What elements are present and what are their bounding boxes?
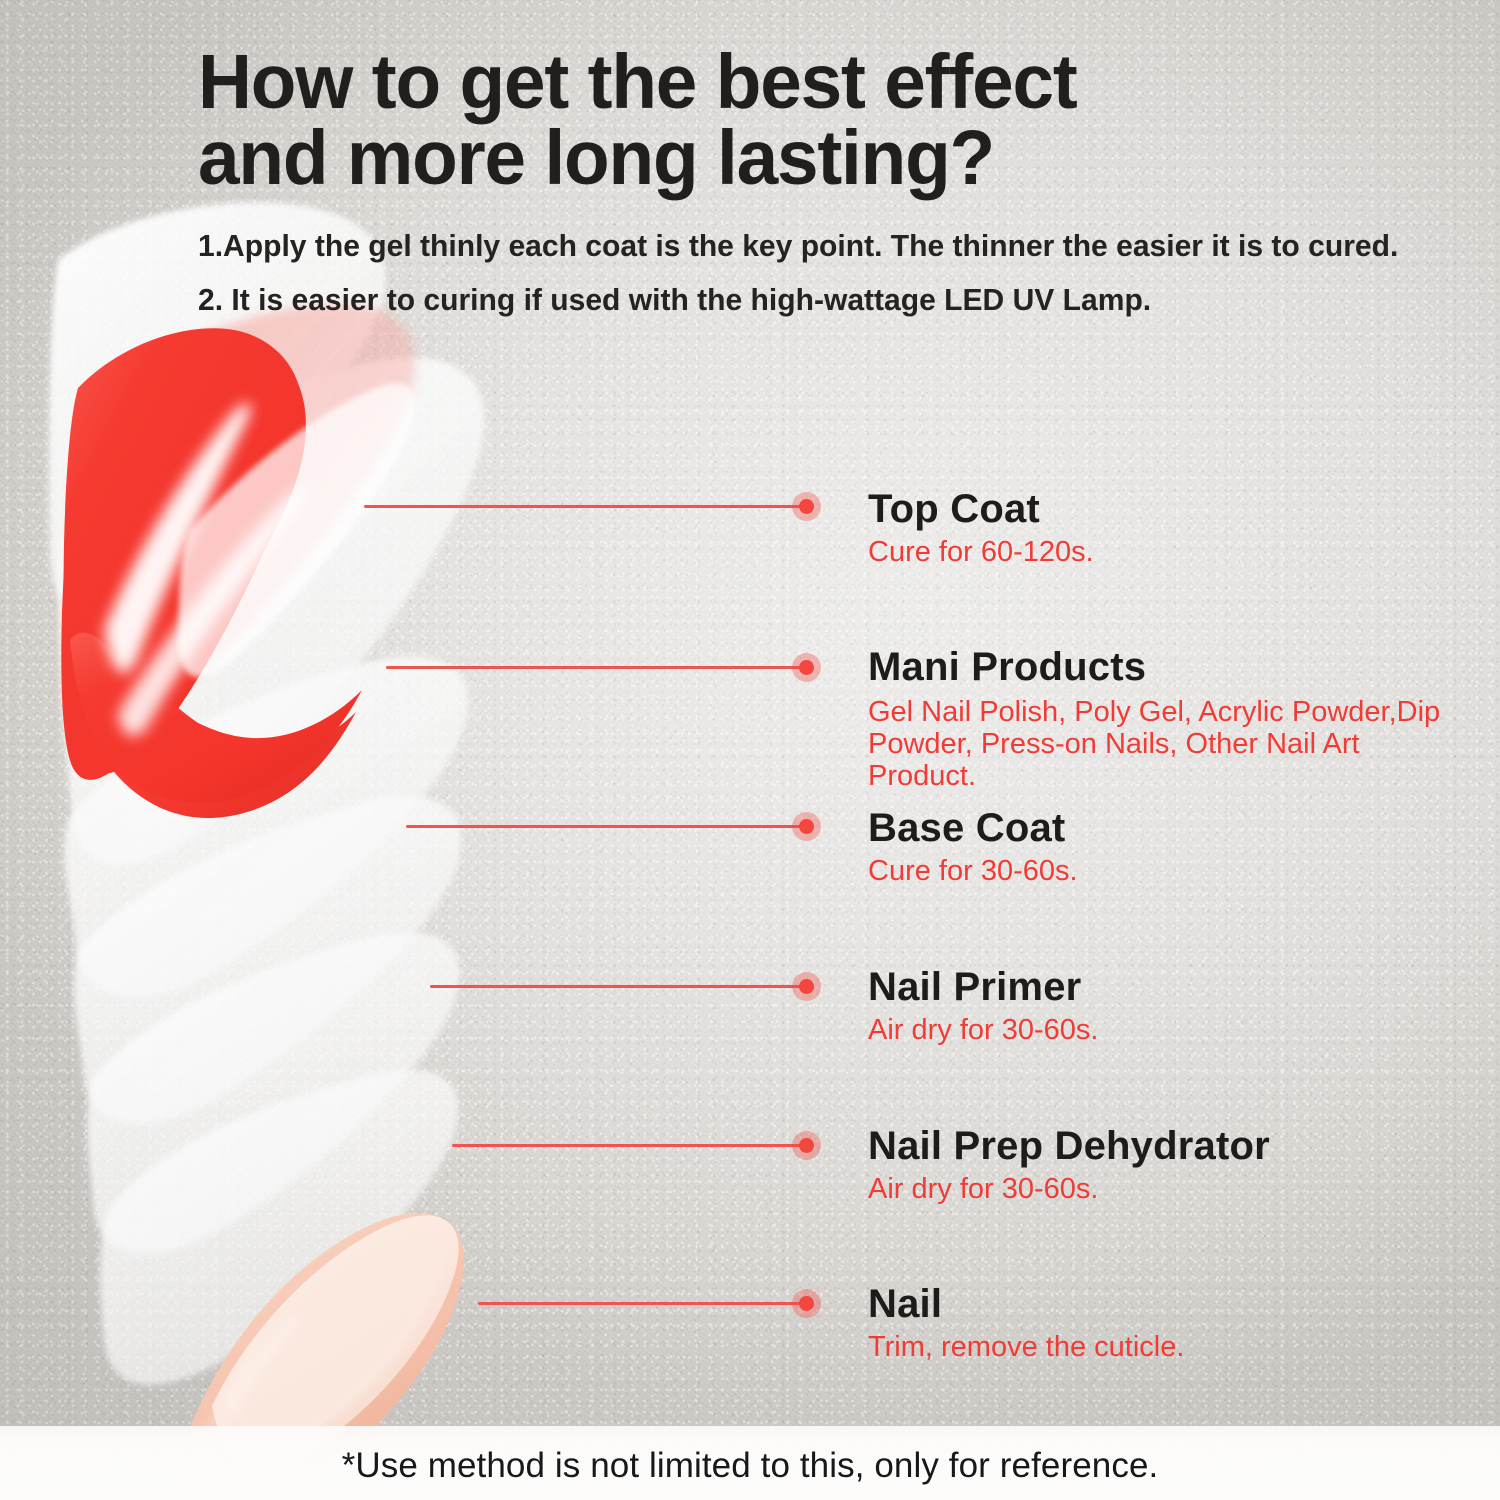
callout-desc-nail-primer: Air dry for 30-60s. — [868, 1014, 1468, 1046]
leader-line-nail-prep-dehydrator — [452, 1144, 808, 1147]
callout-desc-nail-prep-dehydrator: Air dry for 30-60s. — [868, 1173, 1468, 1205]
leader-dot-nail-primer — [799, 979, 814, 994]
callout-desc-nail: Trim, remove the cuticle. — [868, 1331, 1468, 1363]
leader-line-base-coat — [406, 825, 808, 828]
leader-dot-nail-prep-dehydrator — [799, 1138, 814, 1153]
page-title-line-2: and more long lasting? — [198, 120, 1430, 196]
callout-title-nail-prep-dehydrator: Nail Prep Dehydrator — [868, 1124, 1270, 1168]
leader-dot-base-coat — [799, 819, 814, 834]
callout-title-base-coat: Base Coat — [868, 806, 1065, 850]
leader-line-nail-primer — [430, 985, 808, 988]
instruction-line-1: 1.Apply the gel thinly each coat is the … — [198, 229, 1449, 263]
leader-line-nail — [478, 1302, 808, 1305]
header-block: How to get the best effect and more long… — [198, 44, 1468, 317]
leader-dot-nail — [799, 1296, 814, 1311]
callout-desc-top-coat: Cure for 60-120s. — [868, 536, 1468, 568]
footer-note: *Use method is not limited to this, only… — [0, 1446, 1500, 1486]
leader-line-mani-products — [386, 666, 808, 669]
leader-dot-mani-products — [799, 660, 814, 675]
callout-title-nail-primer: Nail Primer — [868, 965, 1081, 1009]
instruction-line-2: 2. It is easier to curing if used with t… — [198, 283, 1449, 317]
callout-desc-mani-products: Gel Nail Polish, Poly Gel, Acrylic Powde… — [868, 696, 1453, 792]
callout-title-mani-products: Mani Products — [868, 645, 1146, 689]
callout-desc-base-coat: Cure for 30-60s. — [868, 855, 1468, 887]
callout-title-nail: Nail — [868, 1282, 942, 1326]
page-title-line-1: How to get the best effect — [198, 44, 1430, 120]
leader-dot-top-coat — [799, 499, 814, 514]
leader-line-top-coat — [364, 505, 808, 508]
callout-title-top-coat: Top Coat — [868, 487, 1040, 531]
